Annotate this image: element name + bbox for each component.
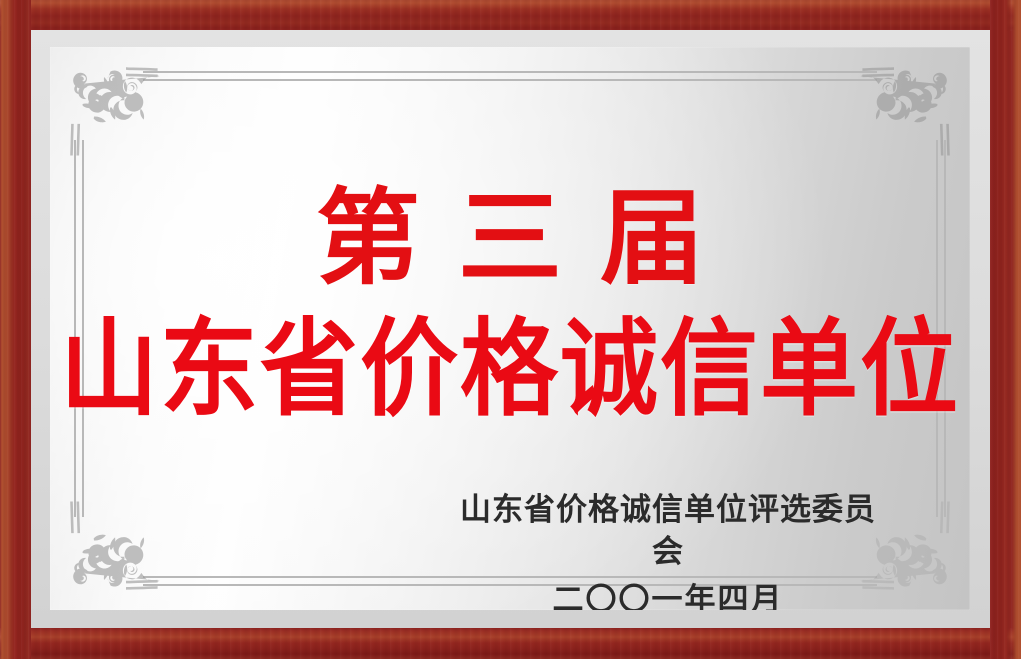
frame-rail-right bbox=[990, 0, 1021, 659]
plate-panel: 第三届 山东省价格诚信单位 山东省价格诚信单位评选委员会 二〇〇一年四月 bbox=[50, 47, 970, 610]
inscription: 第三届 山东省价格诚信单位 山东省价格诚信单位评选委员会 二〇〇一年四月 bbox=[50, 47, 970, 610]
frame-rail-left bbox=[0, 0, 31, 659]
frame-rail-top bbox=[0, 0, 1021, 31]
issue-date: 二〇〇一年四月 bbox=[458, 578, 878, 610]
award-title-line-1: 第三届 bbox=[50, 183, 970, 292]
signature-block: 山东省价格诚信单位评选委员会 二〇〇一年四月 bbox=[458, 490, 878, 610]
award-title-line-2: 山东省价格诚信单位 bbox=[50, 315, 970, 426]
award-plaque: 第三届 山东省价格诚信单位 山东省价格诚信单位评选委员会 二〇〇一年四月 bbox=[0, 0, 1021, 659]
issuing-organization: 山东省价格诚信单位评选委员会 bbox=[458, 490, 878, 574]
silver-plate: 第三届 山东省价格诚信单位 山东省价格诚信单位评选委员会 二〇〇一年四月 bbox=[31, 30, 990, 628]
frame-rail-bottom bbox=[0, 628, 1021, 659]
